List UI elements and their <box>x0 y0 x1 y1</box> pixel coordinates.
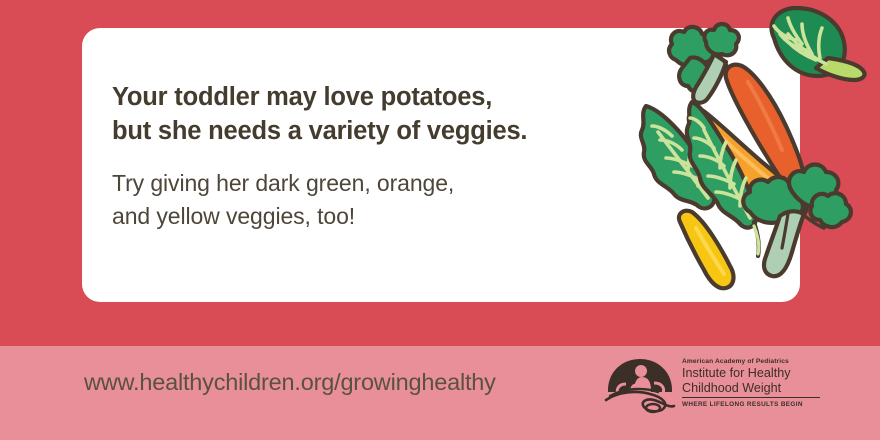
subcopy-line-2: and yellow veggies, too! <box>112 200 612 233</box>
logo-institute-line-1: Institute for Healthy <box>682 366 822 380</box>
subcopy-line-1: Try giving her dark green, orange, <box>112 167 612 200</box>
aap-mother-and-child-mark <box>604 356 676 416</box>
subcopy: Try giving her dark green, orange, and y… <box>112 167 612 232</box>
aap-institute-logo: American Academy of Pediatrics Institute… <box>604 356 824 418</box>
message-block: Your toddler may love potatoes, but she … <box>112 80 612 232</box>
headline-line-1: Your toddler may love potatoes, <box>112 80 612 114</box>
headline: Your toddler may love potatoes, but she … <box>112 80 612 149</box>
website-url[interactable]: www.healthychildren.org/growinghealthy <box>84 369 496 396</box>
logo-organization: American Academy of Pediatrics <box>682 358 822 365</box>
logo-wordmark: American Academy of Pediatrics Institute… <box>682 358 822 408</box>
logo-divider <box>682 397 820 398</box>
logo-institute-line-2: Childhood Weight <box>682 381 822 395</box>
headline-line-2: but she needs a variety of veggies. <box>112 114 612 148</box>
logo-tagline: WHERE LIFELONG RESULTS BEGIN <box>682 401 822 408</box>
poster-canvas: Your toddler may love potatoes, but she … <box>0 0 880 440</box>
